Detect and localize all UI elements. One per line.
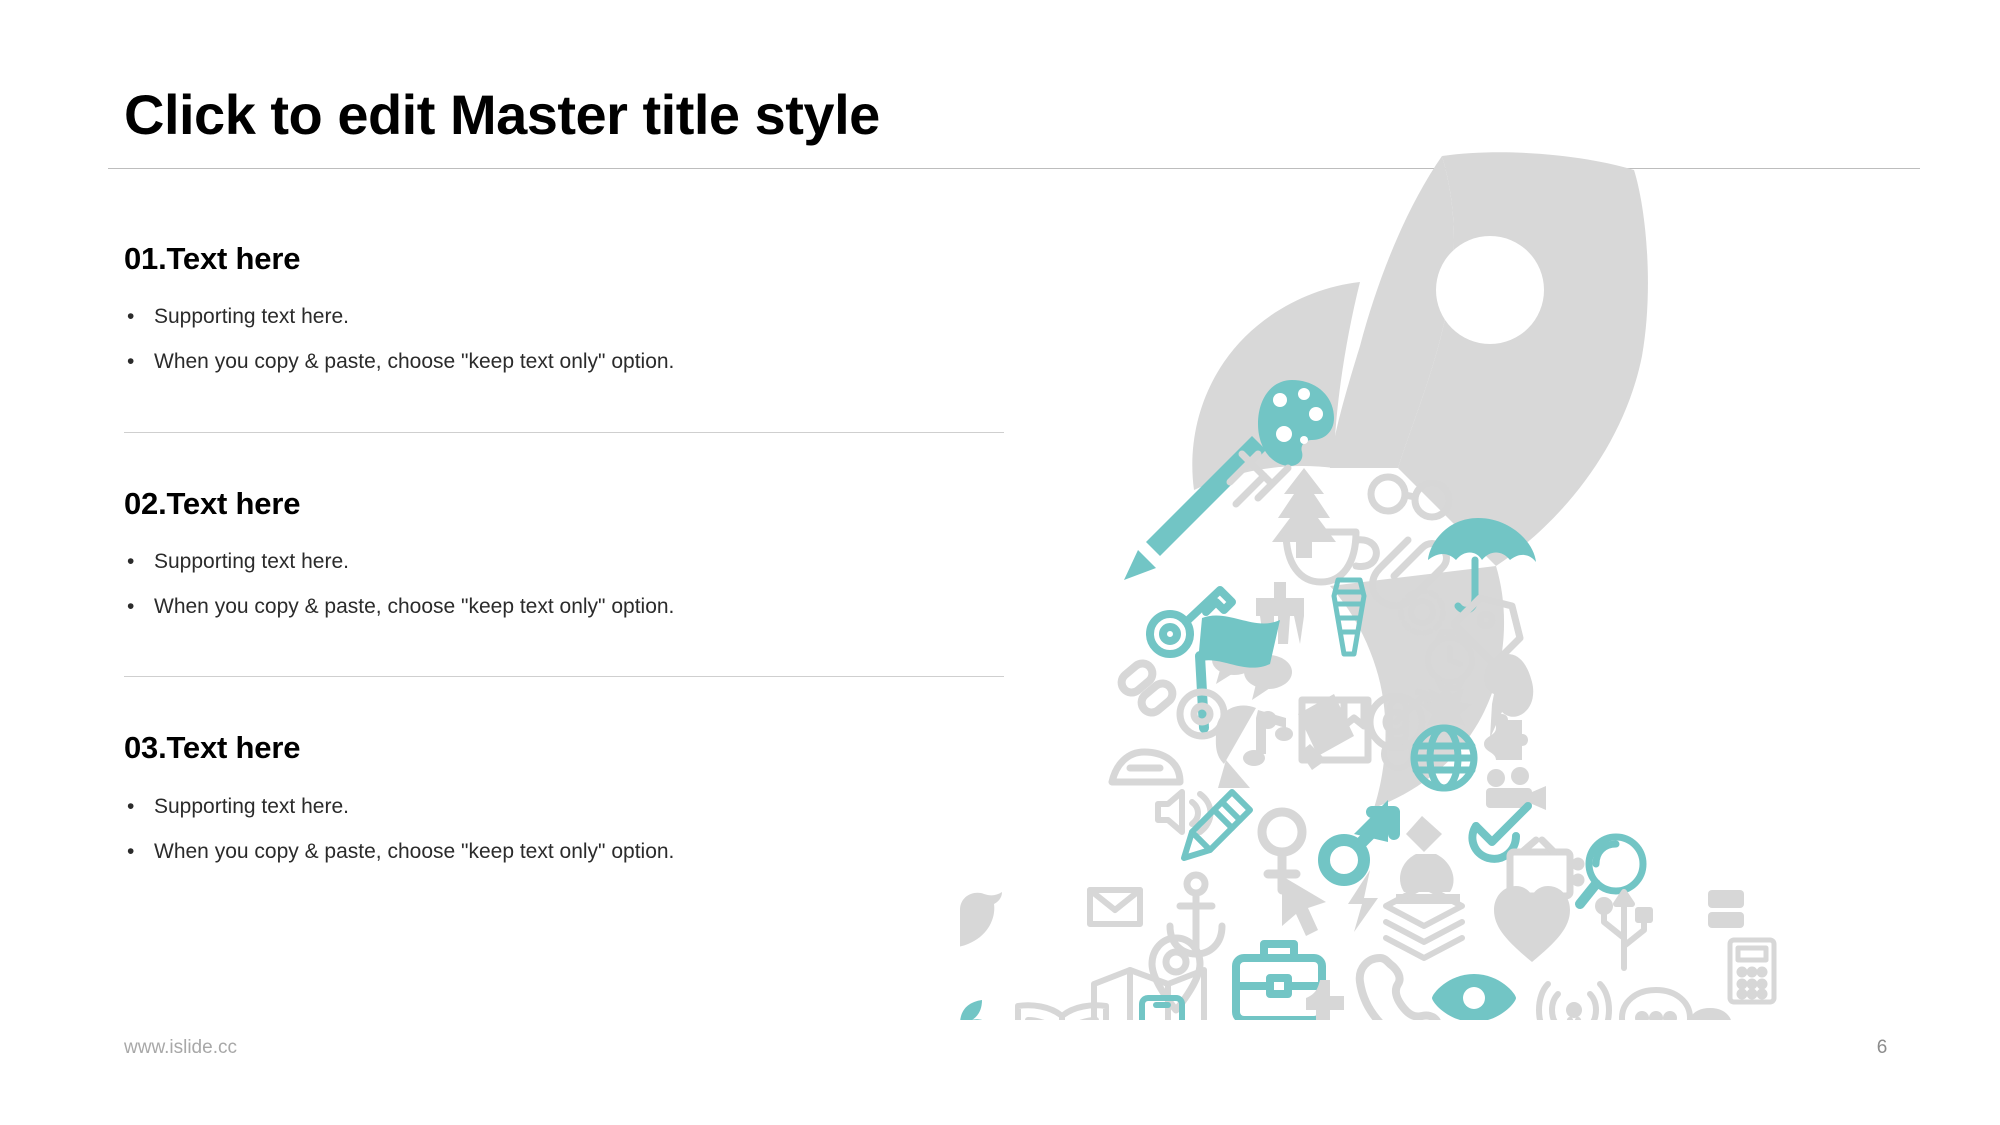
bullet-dot-icon: • [127, 349, 134, 375]
rocket-illustration [960, 150, 1880, 1020]
section-heading[interactable]: 02.Text here [124, 485, 1004, 522]
section-02: 02.Text here • Supporting text here. • W… [124, 485, 1004, 621]
puzzle-icon [1484, 714, 1528, 760]
title-block: Click to edit Master title style [124, 84, 1924, 147]
content-column: 01.Text here • Supporting text here. • W… [124, 240, 1004, 865]
wifi-tower-icon [1539, 984, 1609, 1020]
eye-icon [1432, 974, 1516, 1020]
necktie-icon [1334, 580, 1364, 654]
list-item-label: Supporting text here. [154, 795, 349, 818]
bullet-list: • Supporting text here. • When you copy … [124, 304, 1004, 376]
anchor-icon [1170, 875, 1222, 954]
calculator-icon [1730, 940, 1774, 1002]
bullet-dot-icon: • [127, 794, 134, 820]
chat-bubble-icon [1688, 1008, 1732, 1020]
slide-canvas: Click to edit Master title style 01.Text… [0, 0, 2000, 1125]
section-divider [124, 676, 1004, 677]
list-item-label: Supporting text here. [154, 305, 349, 328]
section-heading[interactable]: 01.Text here [124, 240, 1004, 277]
page-number: 6 [1862, 1037, 1902, 1059]
list-item-label: When you copy & paste, choose "keep text… [154, 840, 674, 863]
envelope-icon [1090, 890, 1140, 924]
footer-url[interactable]: www.islide.cc [124, 1037, 237, 1059]
phone-icon [1360, 958, 1438, 1020]
twitter-icon [960, 892, 1002, 947]
bullet-dot-icon: • [127, 594, 134, 620]
list-item[interactable]: • Supporting text here. [124, 304, 1004, 330]
list-item[interactable]: • Supporting text here. [124, 794, 1004, 820]
section-01: 01.Text here • Supporting text here. • W… [124, 240, 1004, 376]
heart-icon [1494, 886, 1570, 962]
list-item[interactable]: • Supporting text here. [124, 549, 1004, 575]
chat-dots-icon [1622, 990, 1690, 1020]
list-item-label: When you copy & paste, choose "keep text… [154, 595, 674, 618]
list-item-label: When you copy & paste, choose "keep text… [154, 350, 674, 373]
rocket-window-circle [1436, 236, 1544, 344]
film-icon [1486, 767, 1546, 810]
section-03: 03.Text here • Supporting text here. • W… [124, 729, 1004, 865]
cursor-icon [1282, 876, 1326, 936]
usb-icon [1598, 892, 1650, 968]
bullet-list: • Supporting text here. • When you copy … [124, 549, 1004, 621]
bullet-list: • Supporting text here. • When you copy … [124, 794, 1004, 866]
list-item[interactable]: • When you copy & paste, choose "keep te… [124, 594, 1004, 620]
list-item-label: Supporting text here. [154, 550, 349, 573]
page-title[interactable]: Click to edit Master title style [124, 84, 1924, 147]
youtube-icon [1708, 890, 1744, 928]
volume-icon [1158, 792, 1211, 832]
bullet-dot-icon: • [127, 549, 134, 575]
magnifier-icon [1580, 837, 1643, 904]
bullet-dot-icon: • [127, 304, 134, 330]
apple-icon [960, 1000, 998, 1020]
list-item[interactable]: • When you copy & paste, choose "keep te… [124, 839, 1004, 865]
music-note-icon [1243, 710, 1293, 766]
iron-icon [1112, 752, 1180, 782]
list-item[interactable]: • When you copy & paste, choose "keep te… [124, 349, 1004, 375]
chain-link-icon [1118, 659, 1177, 716]
bullet-dot-icon: • [127, 839, 134, 865]
section-divider [124, 432, 1004, 433]
section-heading[interactable]: 03.Text here [124, 729, 1004, 766]
